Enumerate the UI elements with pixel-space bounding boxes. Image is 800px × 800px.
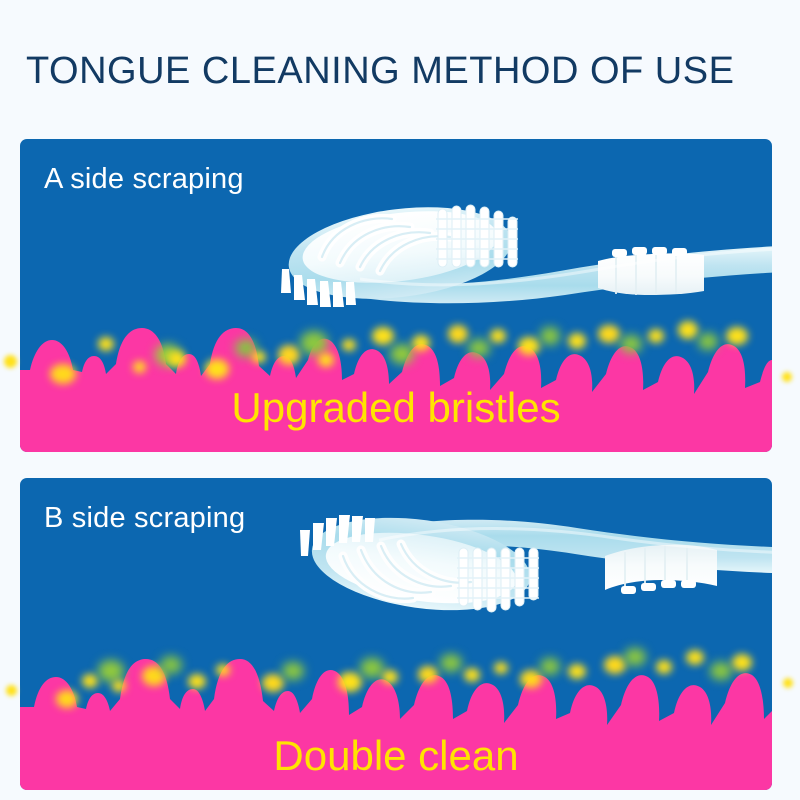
panel-a-side-scraping: A side scraping bbox=[20, 139, 772, 452]
tongue-scraper-icon bbox=[275, 498, 772, 628]
panel-b-side-scraping: B side scraping bbox=[20, 478, 772, 790]
panel-a-label: A side scraping bbox=[44, 163, 244, 196]
page-title: TONGUE CLEANING METHOD OF USE bbox=[26, 50, 786, 93]
glow-speck bbox=[6, 685, 17, 696]
glow-speck bbox=[782, 372, 792, 382]
panel-b-caption: Double clean bbox=[20, 732, 772, 780]
panel-b-label: B side scraping bbox=[44, 502, 245, 535]
glow-speck bbox=[783, 678, 793, 688]
glow-speck bbox=[4, 355, 17, 368]
tongue-scraper-icon bbox=[260, 195, 772, 315]
product-infographic: TONGUE CLEANING METHOD OF USE A side scr… bbox=[0, 0, 800, 800]
panel-a-caption: Upgraded bristles bbox=[20, 384, 772, 432]
